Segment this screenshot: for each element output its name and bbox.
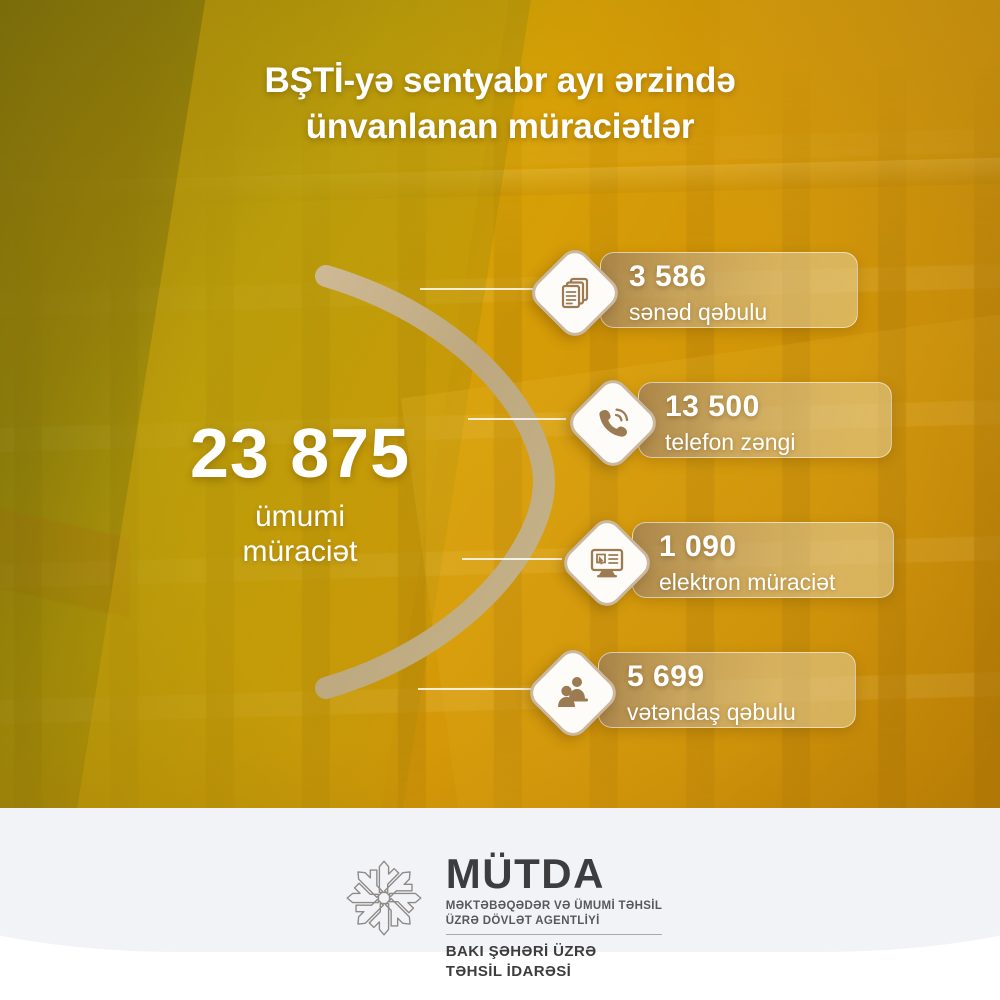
connector-line-1 xyxy=(420,288,540,290)
stat-label-2: telefon zəngi xyxy=(665,431,795,454)
stat-label-1: sənəd qəbulu xyxy=(629,301,767,324)
total-label: ümumi müraciət xyxy=(150,500,450,570)
stat-label-3: elektron müraciət xyxy=(659,571,835,594)
logo-subtitle-line-1: MƏKTƏBƏQƏDƏR VƏ ÜMUMİ TƏHSİL xyxy=(446,900,662,912)
stat-value-1: 3 586 xyxy=(629,262,767,292)
total-block: 23 875 ümumi müraciət xyxy=(150,418,450,570)
total-label-line-2: müraciət xyxy=(150,535,450,570)
total-label-line-1: ümumi xyxy=(255,500,345,533)
logo-department-line-1: BAKI ŞƏHƏRİ ÜZRƏ xyxy=(446,943,597,960)
stat-value-4: 5 699 xyxy=(627,662,796,692)
stat-card-1[interactable]: 3 586 sənəd qəbulu xyxy=(600,252,858,328)
stat-card-4[interactable]: 5 699 vətəndaş qəbulu xyxy=(598,652,856,728)
page-title: BŞTİ-yə sentyabr ayı ərzində ünvanlanan … xyxy=(0,58,1000,150)
connector-line-2 xyxy=(468,418,566,420)
connector-line-3 xyxy=(462,558,562,560)
total-value: 23 875 xyxy=(150,418,450,488)
page-title-line-2: ünvanlanan müraciətlər xyxy=(0,104,1000,150)
stat-card-2[interactable]: 13 500 telefon zəngi xyxy=(638,382,892,458)
stat-text-4: 5 699 vətəndaş qəbulu xyxy=(627,662,796,724)
logo-subtitle-line-2: ÜZRƏ DÖVLƏT AGENTLİYİ xyxy=(446,914,662,929)
page-title-line-1: BŞTİ-yə sentyabr ayı ərzində xyxy=(265,61,736,100)
footer: MÜTDA MƏKTƏBƏQƏDƏR VƏ ÜMUMİ TƏHSİL ÜZRƏ … xyxy=(0,808,1000,1000)
footer-logo-lockup: MÜTDA MƏKTƏBƏQƏDƏR VƏ ÜMUMİ TƏHSİL ÜZRƏ … xyxy=(0,852,1000,981)
infographic-poster: BŞTİ-yə sentyabr ayı ərzində ünvanlanan … xyxy=(0,0,1000,1000)
stat-text-3: 1 090 elektron müraciət xyxy=(659,532,835,594)
stat-value-3: 1 090 xyxy=(659,532,835,562)
connector-line-4 xyxy=(418,688,538,690)
stat-label-4: vətəndaş qəbulu xyxy=(627,701,796,724)
stat-value-2: 13 500 xyxy=(665,392,795,422)
logo-subtitle: MƏKTƏBƏQƏDƏR VƏ ÜMUMİ TƏHSİL ÜZRƏ DÖVLƏT… xyxy=(446,899,662,935)
stat-text-1: 3 586 sənəd qəbulu xyxy=(629,262,767,324)
stat-text-2: 13 500 telefon zəngi xyxy=(665,392,795,454)
logo-department: BAKI ŞƏHƏRİ ÜZRƏ TƏHSİL İDARƏSİ xyxy=(446,942,662,981)
logo-text-block: MÜTDA MƏKTƏBƏQƏDƏR VƏ ÜMUMİ TƏHSİL ÜZRƏ … xyxy=(446,852,662,981)
stat-card-3[interactable]: 1 090 elektron müraciət xyxy=(632,522,894,598)
logo-department-line-2: TƏHSİL İDARƏSİ xyxy=(446,962,662,982)
eight-point-star-emblem xyxy=(338,852,430,944)
logo-title: MÜTDA xyxy=(446,854,662,894)
